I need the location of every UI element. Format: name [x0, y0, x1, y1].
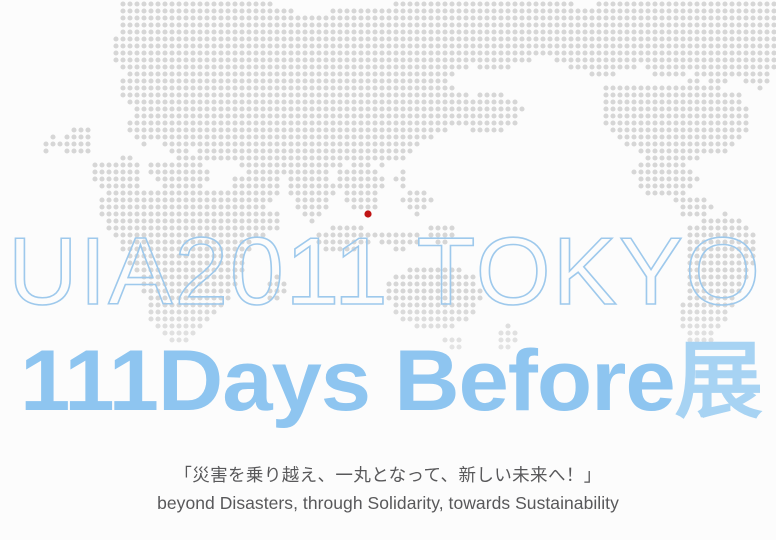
countdown-headline: 111Days Before展	[0, 330, 776, 430]
countdown-headline-svg: 111Days Before展	[0, 330, 776, 430]
tokyo-marker-dot	[364, 210, 371, 217]
tagline-block: 「災害を乗り越え、一丸となって、新しい未来へ！」 beyond Disaster…	[0, 462, 776, 516]
tagline-english: beyond Disasters, through Solidarity, to…	[0, 490, 776, 516]
poster-canvas: UIA2011 TOKYO 111Days Before展 「災害を乗り越え、一…	[0, 0, 776, 540]
event-name-text: UIA2011 TOKYO	[8, 228, 762, 318]
exhibition-kanji: 展	[675, 332, 763, 430]
days-before-label: Days Before	[158, 333, 675, 429]
event-name-svg: UIA2011 TOKYO	[0, 228, 776, 318]
days-count-number: 111	[20, 333, 158, 429]
countdown-headline-text: 111Days Before展	[20, 332, 763, 430]
tagline-japanese: 「災害を乗り越え、一丸となって、新しい未来へ！」	[0, 462, 776, 490]
event-name-outline: UIA2011 TOKYO	[0, 228, 776, 318]
